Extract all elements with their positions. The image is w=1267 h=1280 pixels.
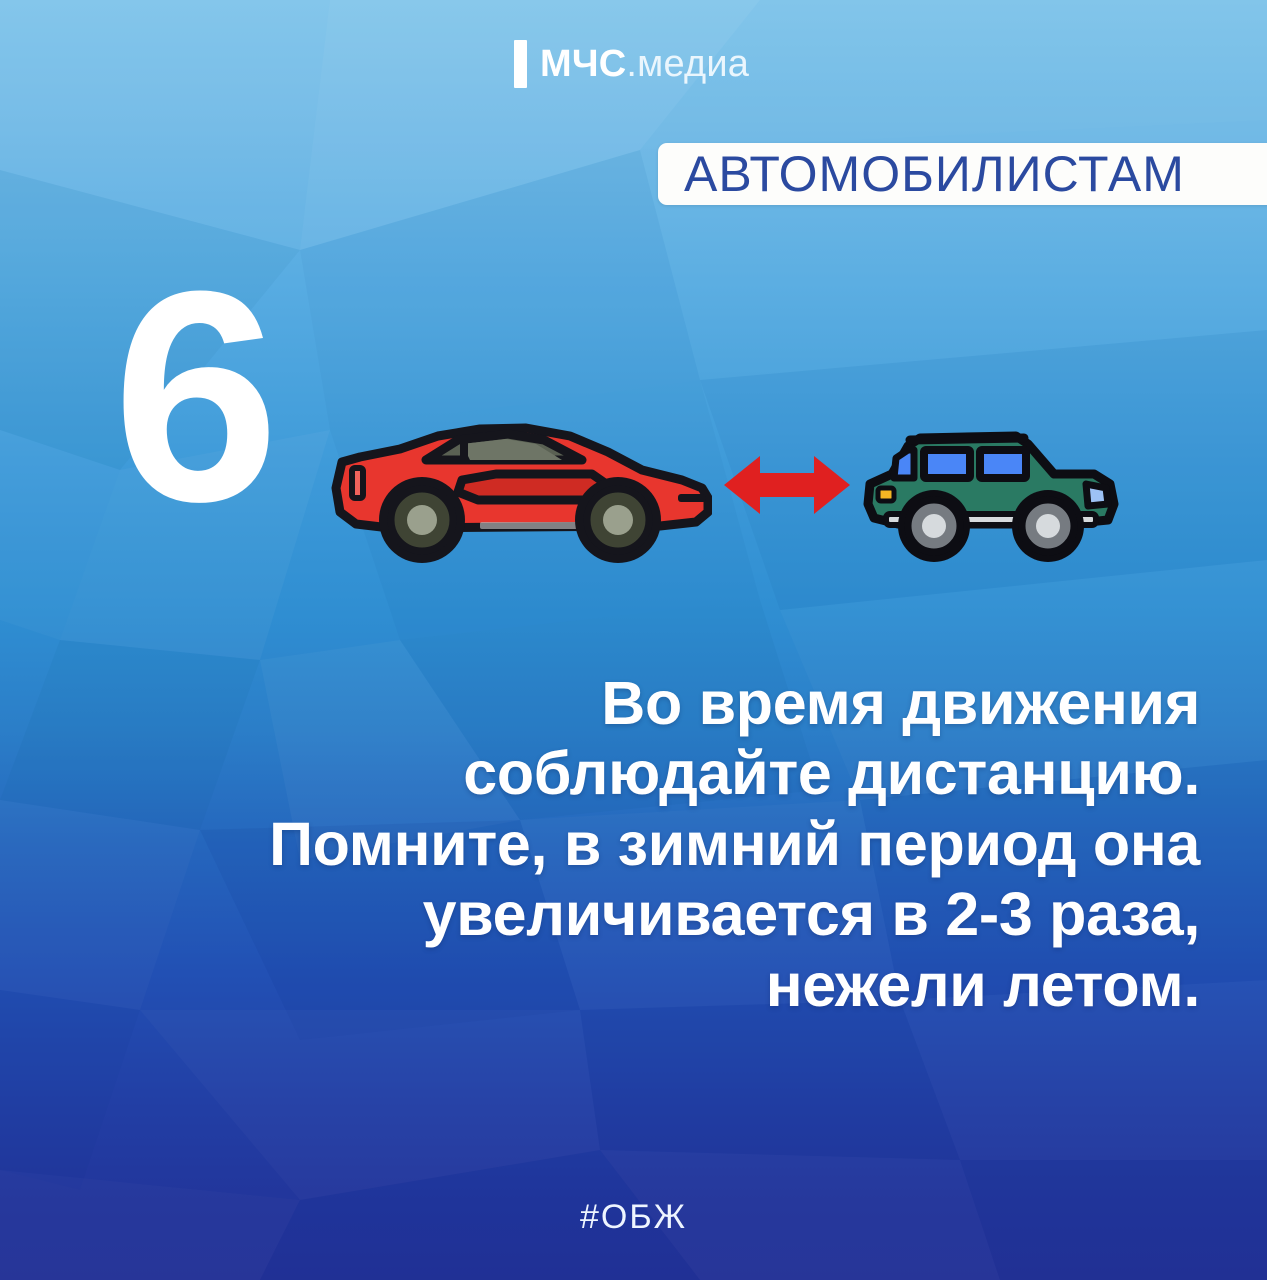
double-arrow-horizontal-icon [722,450,852,520]
sports-car-red-icon [330,416,712,568]
message-line-4: увеличивается в 2-3 раза, [110,879,1200,949]
message-line-3: Помните, в зимний период она [110,809,1200,879]
brand-name-primary: МЧС [540,43,626,85]
vertical-bar-icon [514,40,527,88]
slide-number: 6 [84,246,304,546]
footer-hashtag: #ОБЖ [0,1198,1267,1237]
message-line-1: Во время движения [110,668,1200,738]
suv-green-icon [858,418,1128,568]
message-line-5: нежели летом. [110,950,1200,1020]
category-banner: АВТОМОБИЛИСТАМ [658,143,1267,205]
brand-name-secondary: .медиа [626,43,749,85]
brand-logo-text: МЧС.медиа [540,45,749,83]
infographic-canvas: МЧС.медиа АВТОМОБИЛИСТАМ 6 [0,0,1267,1280]
illustration-group [330,408,1140,573]
message-line-2: соблюдайте дистанцию. [110,738,1200,808]
message-text: Во время движения соблюдайте дистанцию. … [110,668,1200,1020]
category-banner-label: АВТОМОБИЛИСТАМ [684,149,1185,199]
brand-logo: МЧС.медиа [514,40,749,88]
